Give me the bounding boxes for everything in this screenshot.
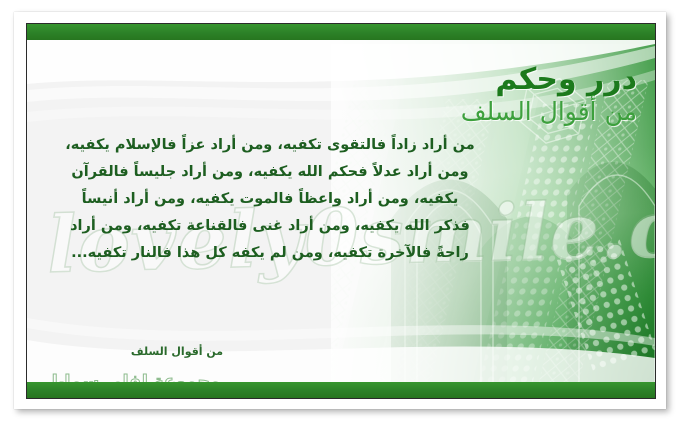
page-title: درر وحكم: [461, 64, 637, 96]
top-green-bar: [27, 24, 655, 40]
footer-brand: مجموعة لفلي سمايل lovely0smile.com: [43, 372, 293, 382]
page-subtitle: من أقوال السلف: [461, 98, 637, 126]
card-frame: lovely0smile.com درر وحكم من أقوال السلف…: [26, 23, 656, 399]
bottom-green-bar: [27, 382, 655, 398]
quote-line: فذكر الله يكفيه، ومن أراد غنى فالقناعة ت…: [35, 213, 505, 240]
quote-line: من أراد زاداً فالتقوى تكفيه، ومن أراد عز…: [35, 132, 505, 159]
quote-card: lovely0smile.com درر وحكم من أقوال السلف…: [0, 0, 692, 432]
card-canvas: lovely0smile.com درر وحكم من أقوال السلف…: [27, 40, 655, 382]
quote-line: راحةً فالآخرة تكفيه، ومن لم يكفه كل هذا …: [35, 240, 505, 267]
quote-attribution: من أقوال السلف: [27, 345, 327, 358]
brand-arabic-name: مجموعة لفلي سمايل: [43, 372, 293, 382]
title-block: درر وحكم من أقوال السلف: [461, 64, 637, 125]
quote-line: يكفيه، ومن أراد واعظاً فالموت يكفيه، ومن…: [35, 186, 505, 213]
quote-line: ومن أراد عدلاً فحكم الله يكفيه، ومن أراد…: [35, 159, 505, 186]
quote-body: من أراد زاداً فالتقوى تكفيه، ومن أراد عز…: [35, 132, 505, 267]
